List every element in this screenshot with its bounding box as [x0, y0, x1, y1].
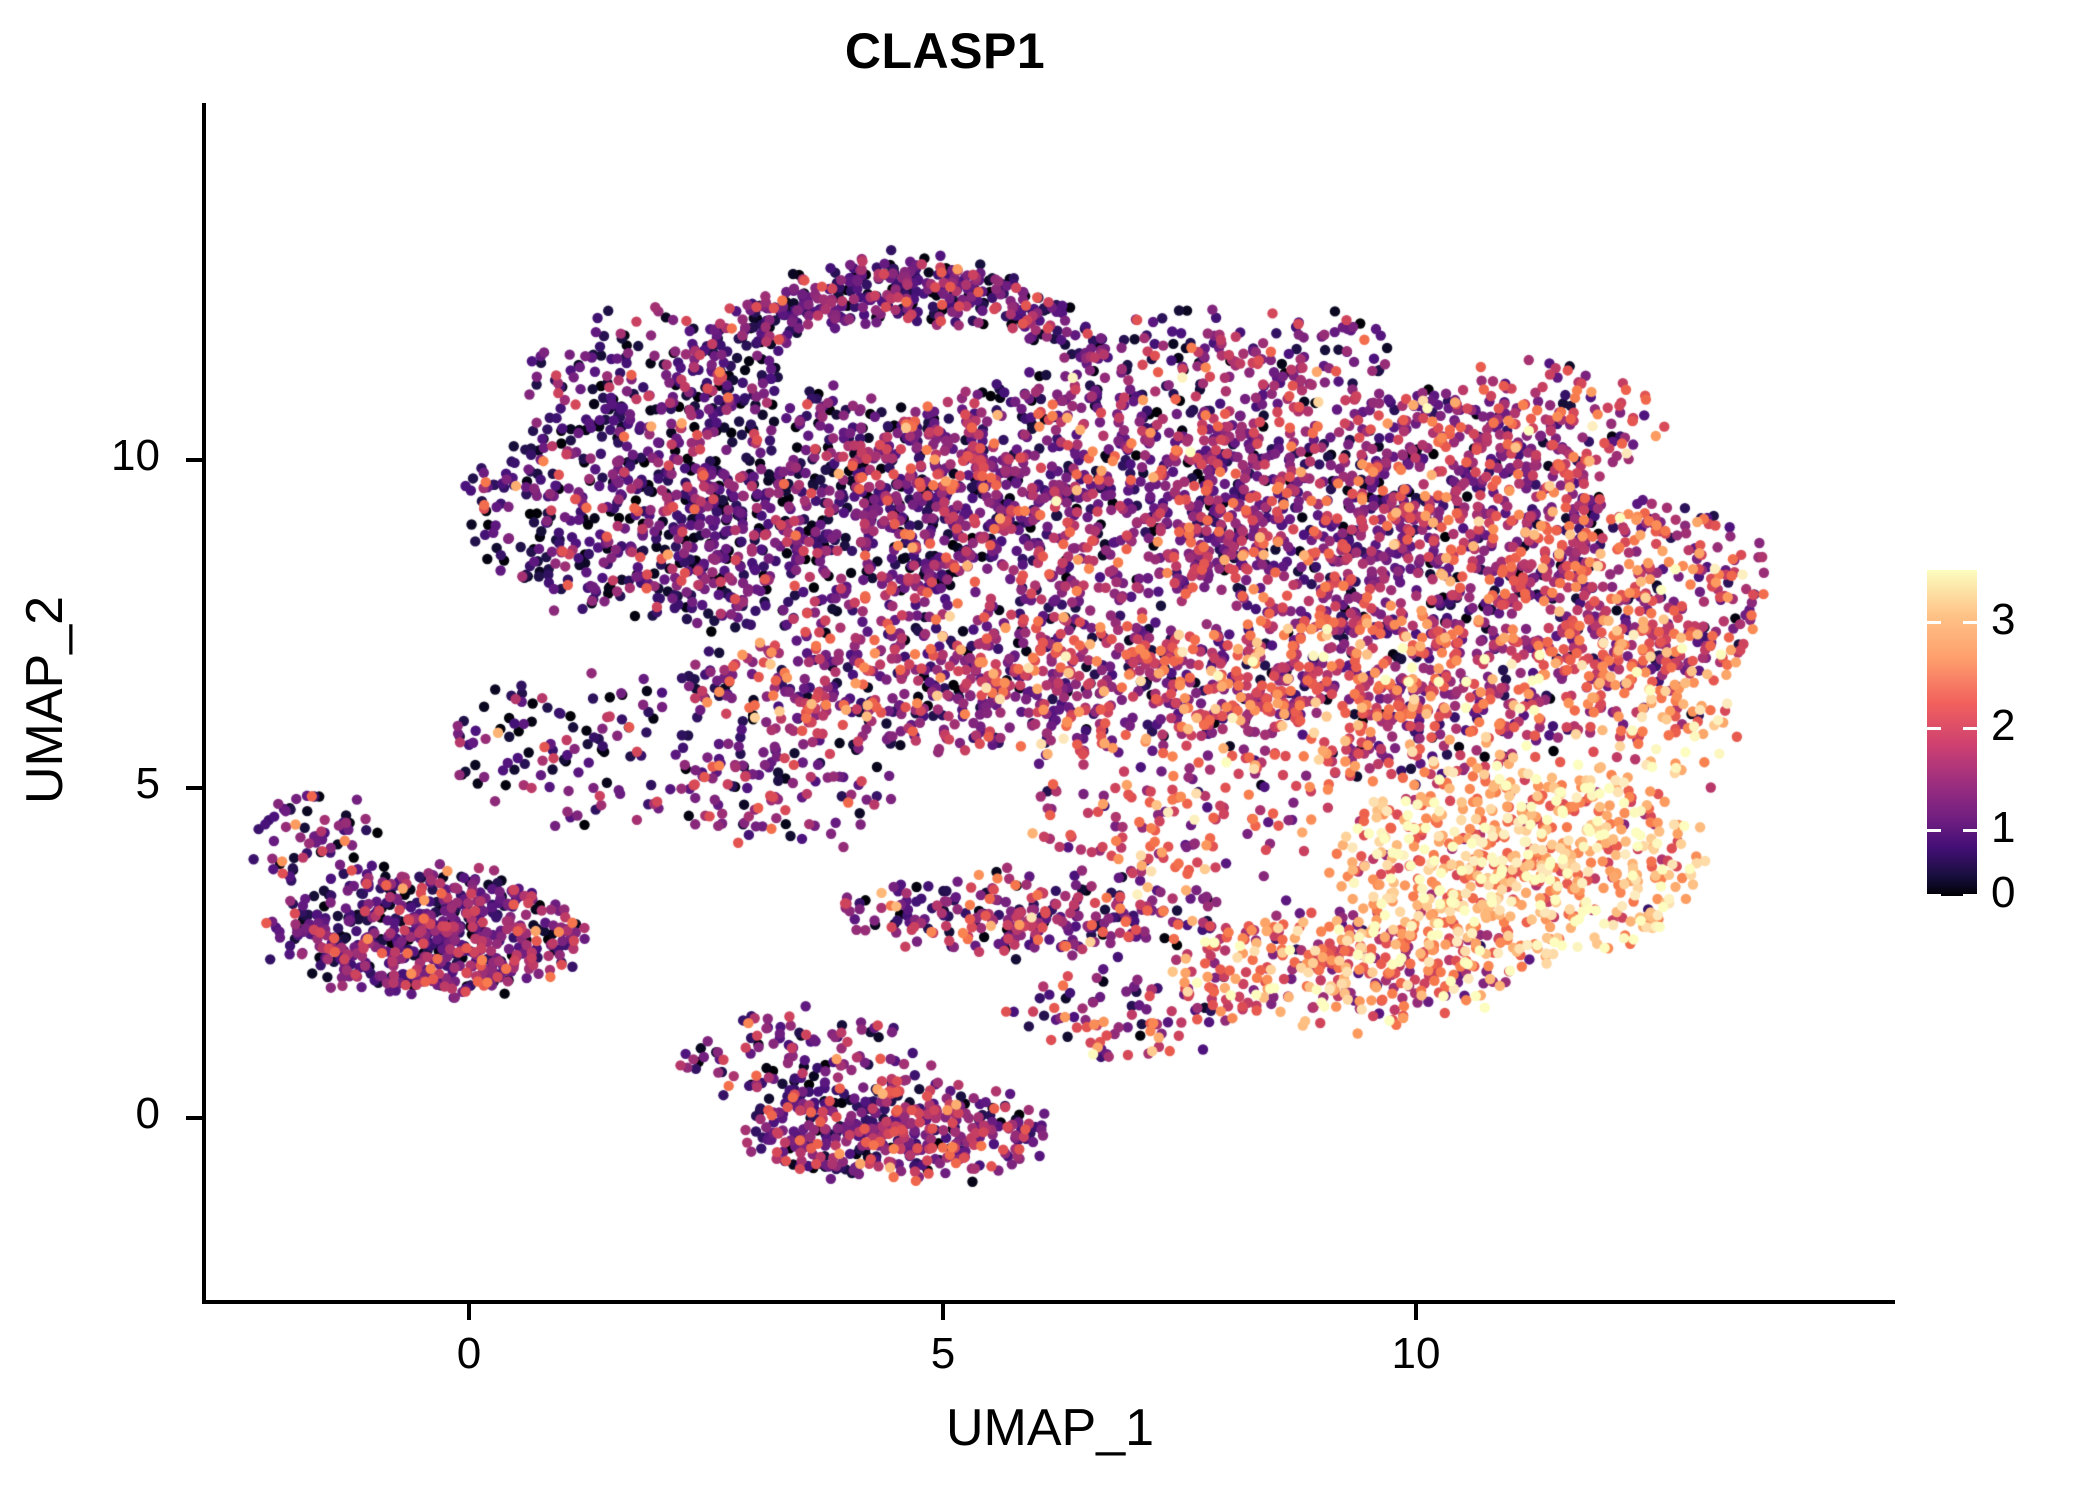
x-axis-title: UMAP_1: [205, 1398, 1895, 1458]
colorbar-tick-3: [1927, 621, 1977, 624]
x-tick-label-0: 0: [379, 1332, 559, 1376]
scatter-plot-area: [205, 103, 1895, 1302]
y-axis-title-wrapper: UMAP_2: [0, 0, 90, 1400]
colorbar-label-0: 0: [1991, 871, 2081, 915]
x-tick-label-5: 5: [853, 1332, 1033, 1376]
colorbar-tick-0: [1927, 894, 1977, 897]
x-tick-mark-0: [467, 1304, 471, 1320]
y-tick-mark-5: [186, 786, 202, 790]
scatter-points-canvas: [205, 103, 1895, 1302]
y-tick-mark-10: [186, 458, 202, 462]
colorbar-label-1: 1: [1991, 806, 2081, 850]
colorbar-label-2: 2: [1991, 704, 2081, 748]
x-tick-mark-10: [1414, 1304, 1418, 1320]
colorbar-legend: 3 2 1 0: [1925, 560, 2095, 910]
x-tick-label-10: 10: [1326, 1332, 1506, 1376]
y-axis-title: UMAP_2: [15, 596, 75, 804]
page-title: CLASP1: [0, 22, 1890, 80]
y-tick-mark-0: [186, 1116, 202, 1120]
x-tick-mark-5: [941, 1304, 945, 1320]
colorbar-gradient: [1927, 570, 1977, 896]
colorbar-tick-2: [1927, 727, 1977, 730]
umap-feature-plot: CLASP1 10 5 0 0 5 10 UMAP_1 UMAP_2 3 2 1…: [0, 0, 2100, 1500]
colorbar-label-3: 3: [1991, 598, 2081, 642]
colorbar-tick-1: [1927, 829, 1977, 832]
